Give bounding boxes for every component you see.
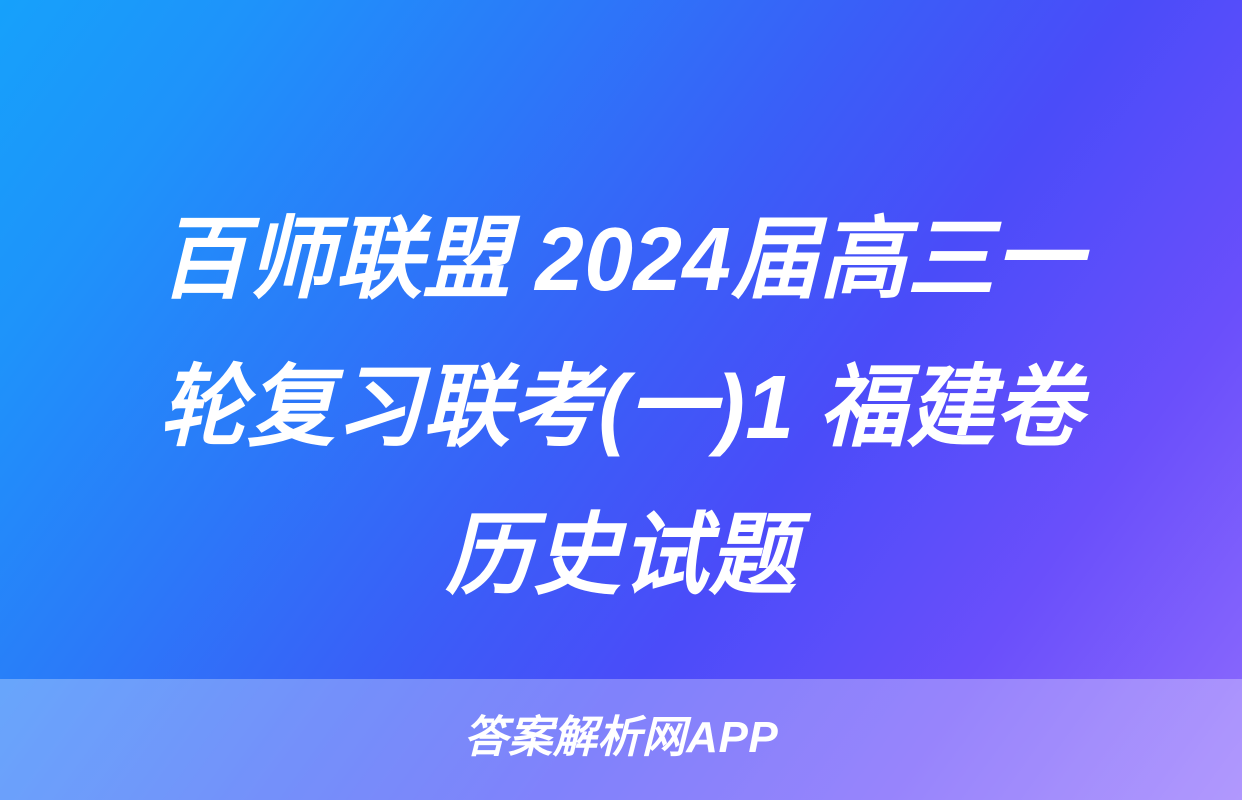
page-title: 百师联盟 2024届高三一 轮复习联考(一)1 福建卷 历史试题	[0, 186, 1242, 630]
watermark-app-name: 答案解析网APP	[464, 716, 778, 760]
title-line-1: 百师联盟 2024届高三一	[61, 186, 1180, 334]
title-line-3: 历史试题	[61, 482, 1180, 630]
title-line-2: 轮复习联考(一)1 福建卷	[61, 334, 1180, 482]
watermark-band: 答案解析网APP	[0, 679, 1242, 800]
exam-cover-page: 百师联盟 2024届高三一 轮复习联考(一)1 福建卷 历史试题 答案解析网AP…	[0, 0, 1242, 800]
